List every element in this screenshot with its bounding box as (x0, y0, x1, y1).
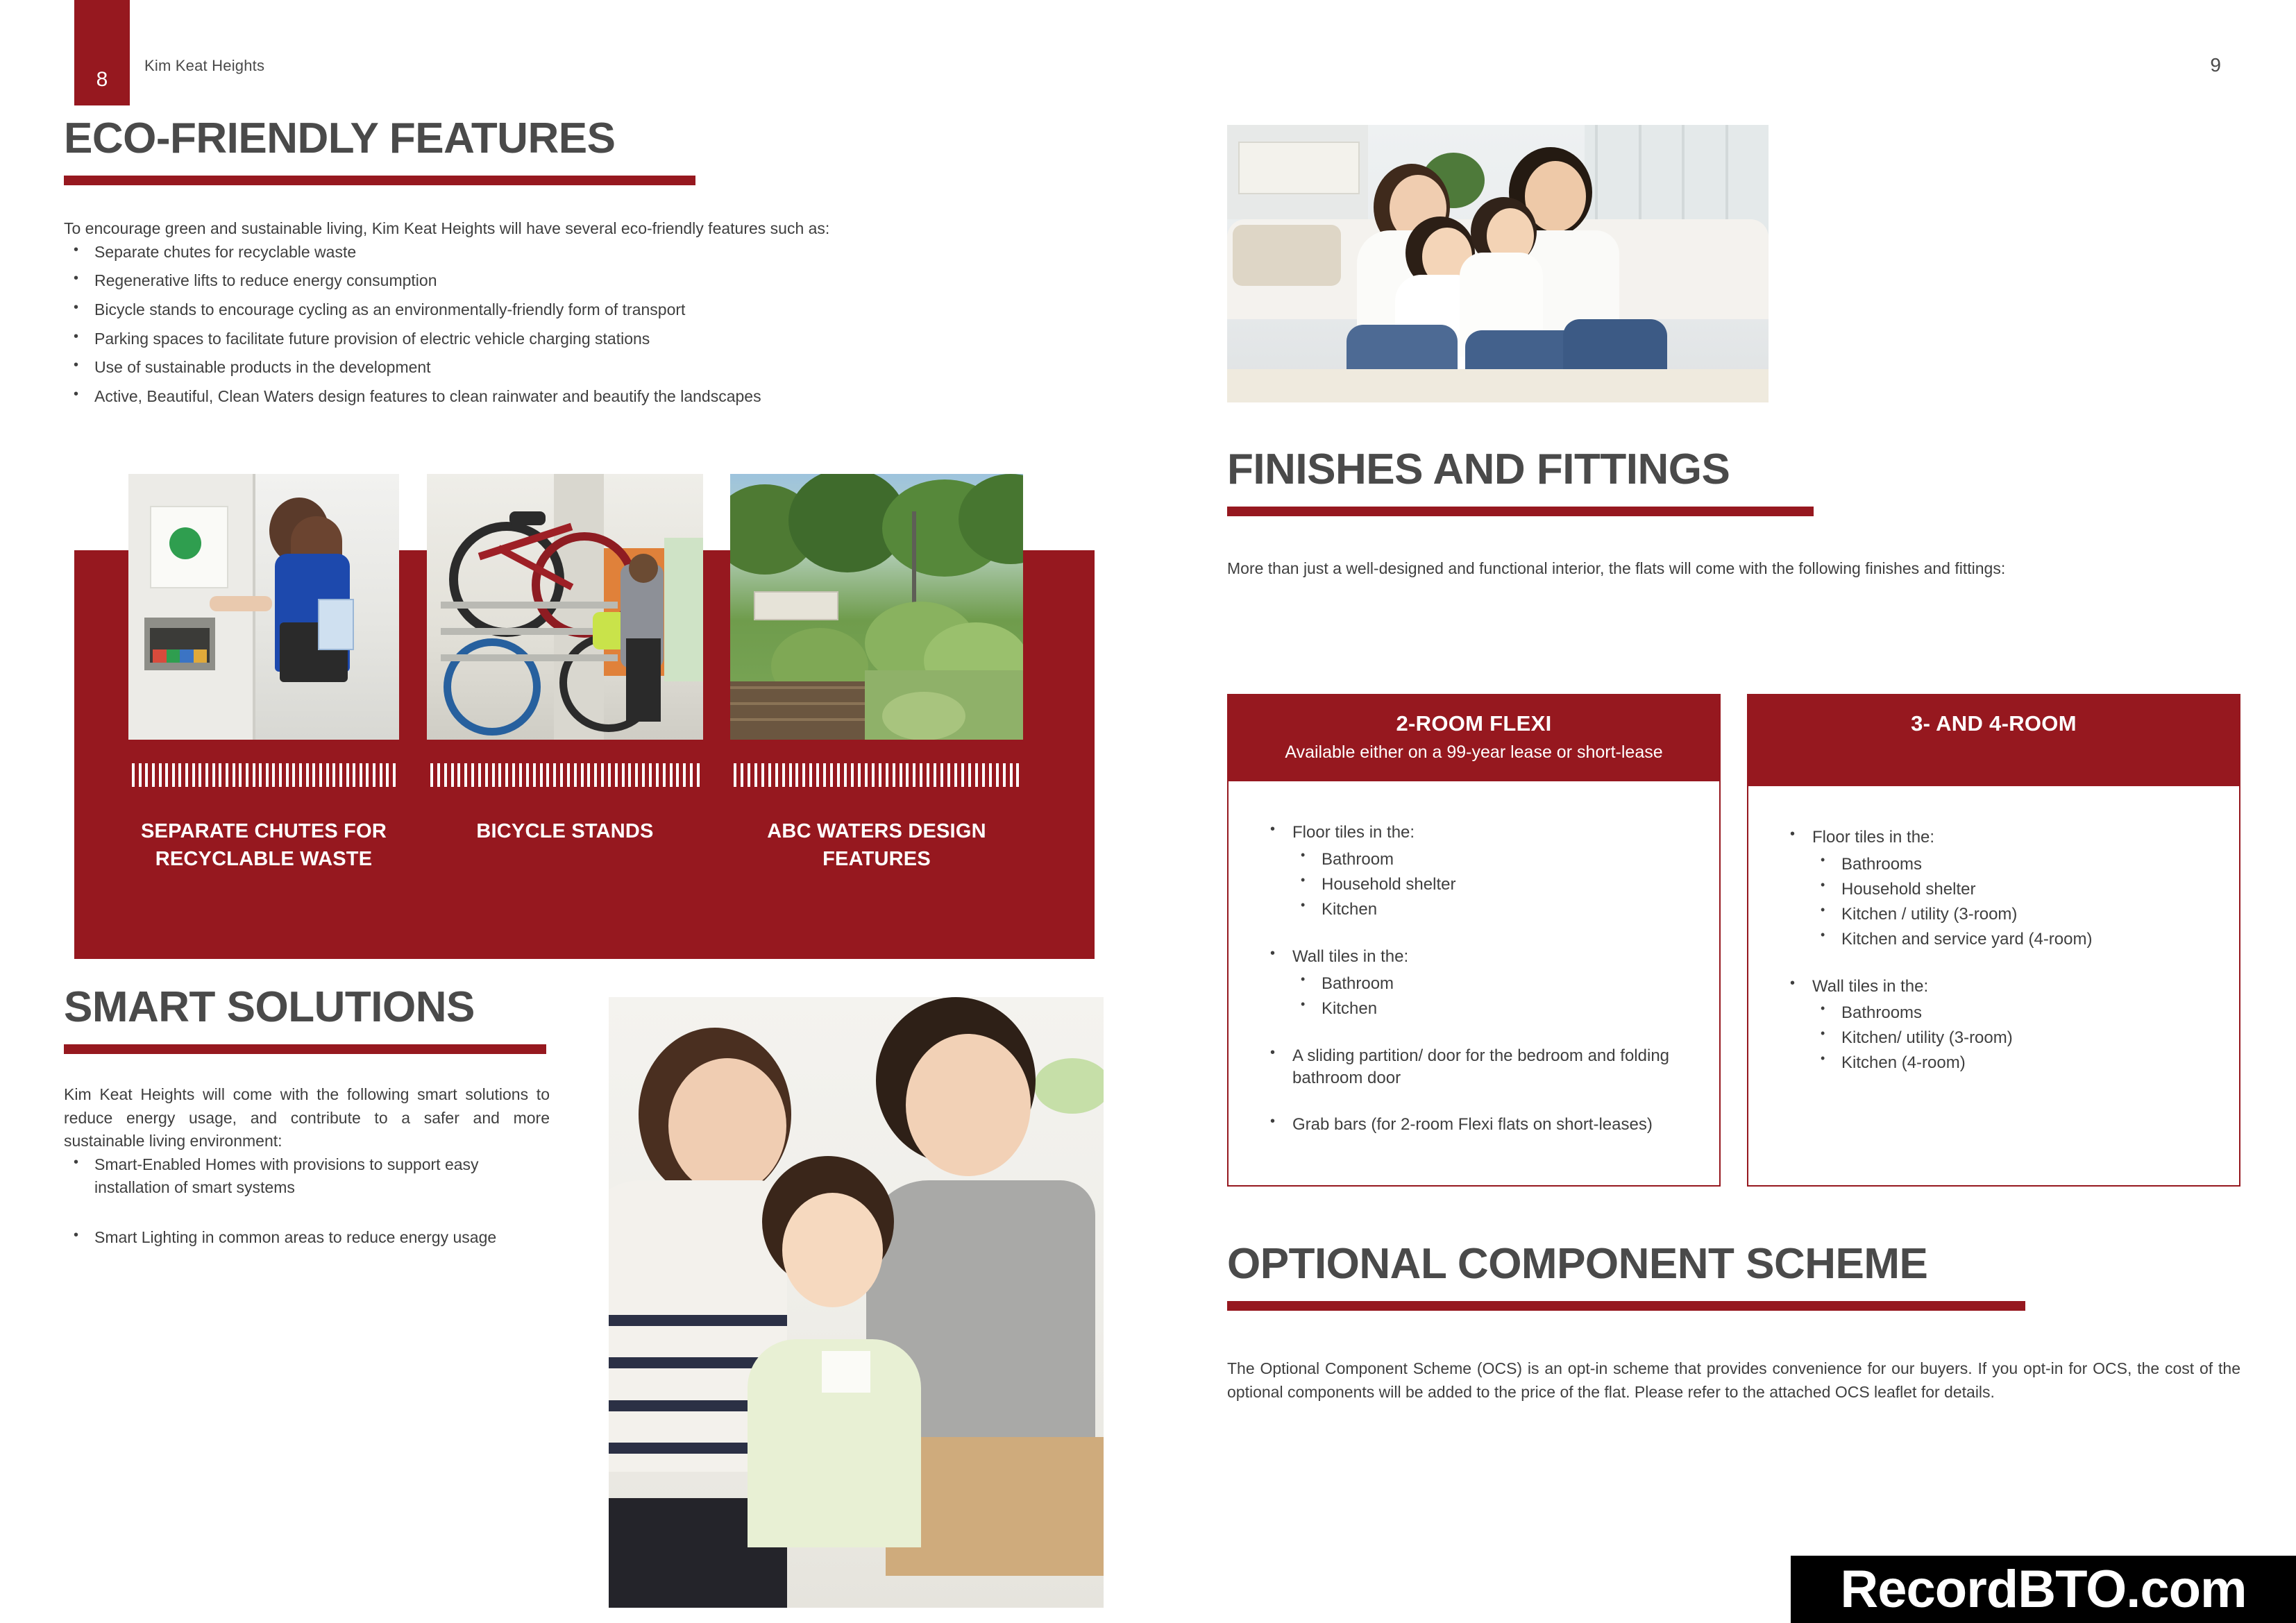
finishes-box-header: 2-ROOM FLEXI Available either on a 99-ye… (1229, 695, 1719, 781)
photo-caption: ABC WATERS DESIGN FEATURES (730, 817, 1023, 873)
eco-intro-paragraph: To encourage green and sustainable livin… (64, 217, 1049, 240)
photo-separate-chutes (128, 474, 399, 740)
list-item: Regenerative lifts to reduce energy cons… (64, 269, 1049, 292)
list-item: Use of sustainable products in the devel… (64, 356, 1049, 379)
list-item: Household shelter (1812, 877, 2211, 902)
finishes-sublist: Bathroom Household shelter Kitchen (1292, 847, 1691, 922)
brochure-page: 8 Kim Keat Heights 9 ECO-FRIENDLY FEATUR… (0, 0, 2296, 1623)
list-item: Kitchen / utility (3-room) (1812, 902, 2211, 927)
list-item: Kitchen (4-room) (1812, 1051, 2211, 1076)
list-item-label: Wall tiles in the: (1292, 947, 1408, 966)
photo-caption: SEPARATE CHUTES FOR RECYCLABLE WASTE (128, 817, 399, 873)
list-item: Kitchen/ utility (3-room) (1812, 1026, 2211, 1051)
finishes-list: Floor tiles in the: Bathrooms Household … (1784, 826, 2211, 1076)
list-item: Kitchen and service yard (4-room) (1812, 927, 2211, 952)
finishes-box-subtitle: Available either on a 99-year lease or s… (1241, 742, 1707, 763)
development-name: Kim Keat Heights (144, 57, 264, 75)
page-number-tab: 8 (74, 0, 130, 105)
photo-caption: BICYCLE STANDS (427, 817, 703, 845)
list-item: A sliding partition/ door for the bedroo… (1265, 1045, 1691, 1090)
list-item: Grab bars (for 2-room Flexi flats on sho… (1265, 1114, 1691, 1137)
list-item: Bicycle stands to encourage cycling as a… (64, 298, 1049, 321)
finishes-box-body: Floor tiles in the: Bathroom Household s… (1229, 781, 1719, 1184)
eco-section-title: ECO-FRIENDLY FEATURES (64, 117, 1049, 160)
list-item: Kitchen (1292, 996, 1691, 1021)
list-item: Wall tiles in the: Bathrooms Kitchen/ ut… (1784, 976, 2211, 1076)
list-item-label: Floor tiles in the: (1812, 828, 1934, 847)
finishes-title-rule (1227, 507, 1814, 516)
watermark-text: RecordBTO.com (1840, 1563, 2246, 1616)
list-item: Household shelter (1292, 872, 1691, 897)
smart-title-rule (64, 1044, 546, 1054)
list-item: Smart Lighting in common areas to reduce… (64, 1226, 550, 1249)
finishes-paragraph: More than just a well-designed and funct… (1227, 557, 2240, 580)
list-item: Parking spaces to facilitate future prov… (64, 328, 1049, 350)
list-item: Kitchen (1292, 897, 1691, 922)
list-item: Floor tiles in the: Bathroom Household s… (1265, 822, 1691, 922)
list-item: Bathrooms (1812, 852, 2211, 877)
list-item-label: Floor tiles in the: (1292, 823, 1415, 842)
photo-finishes-family (1227, 125, 1769, 402)
finishes-boxes: 2-ROOM FLEXI Available either on a 99-ye… (1227, 694, 2240, 1187)
eco-title-rule (64, 176, 695, 185)
eco-friendly-section: ECO-FRIENDLY FEATURES To encourage green… (64, 117, 1049, 414)
list-item-label: Wall tiles in the: (1812, 977, 1928, 996)
photo-smart-solutions-family (609, 997, 1104, 1608)
finishes-box-3-and-4-room: 3- AND 4-ROOM Floor tiles in the: Bathro… (1747, 694, 2240, 1187)
finishes-section-heading: FINISHES AND FITTINGS (1227, 448, 2240, 516)
photo-abc-waters (730, 474, 1023, 740)
finishes-sublist: Bathrooms Household shelter Kitchen / ut… (1812, 852, 2211, 952)
finishes-sublist: Bathroom Kitchen (1292, 971, 1691, 1021)
caption-divider-ticks (734, 763, 1020, 787)
finishes-box-title: 2-ROOM FLEXI (1241, 711, 1707, 736)
list-item: Separate chutes for recyclable waste (64, 241, 1049, 264)
smart-paragraph: Kim Keat Heights will come with the foll… (64, 1083, 550, 1153)
page-number-right: 9 (2210, 54, 2221, 76)
smart-bullet-list: Smart-Enabled Homes with provisions to s… (64, 1153, 550, 1249)
ocs-paragraph: The Optional Component Scheme (OCS) is a… (1227, 1357, 2240, 1404)
ocs-section-heading: OPTIONAL COMPONENT SCHEME (1227, 1242, 2240, 1311)
finishes-section-title: FINISHES AND FITTINGS (1227, 448, 2240, 491)
list-item: Active, Beautiful, Clean Waters design f… (64, 385, 1049, 408)
list-item: Bathroom (1292, 971, 1691, 996)
smart-section-title: SMART SOLUTIONS (64, 985, 550, 1029)
finishes-sublist: Bathrooms Kitchen/ utility (3-room) Kitc… (1812, 1001, 2211, 1076)
ocs-title-rule (1227, 1301, 2025, 1311)
list-item: Bathroom (1292, 847, 1691, 872)
list-item: Smart-Enabled Homes with provisions to s… (64, 1153, 550, 1198)
list-item: Wall tiles in the: Bathroom Kitchen (1265, 946, 1691, 1021)
page-number-left: 8 (74, 69, 130, 90)
finishes-box-title: 3- AND 4-ROOM (1761, 711, 2227, 736)
finishes-box-2-room-flexi: 2-ROOM FLEXI Available either on a 99-ye… (1227, 694, 1721, 1187)
smart-solutions-section: SMART SOLUTIONS Kim Keat Heights will co… (64, 985, 550, 1277)
finishes-box-header: 3- AND 4-ROOM (1748, 695, 2239, 786)
caption-divider-ticks (132, 763, 396, 787)
eco-bullet-list: Separate chutes for recyclable waste Reg… (64, 241, 1049, 408)
caption-divider-ticks (430, 763, 700, 787)
ocs-section-title: OPTIONAL COMPONENT SCHEME (1227, 1242, 2240, 1286)
finishes-list: Floor tiles in the: Bathroom Household s… (1265, 822, 1691, 1136)
finishes-box-body: Floor tiles in the: Bathrooms Household … (1748, 786, 2239, 1184)
recordbto-watermark: RecordBTO.com (1791, 1556, 2296, 1623)
list-item: Bathrooms (1812, 1001, 2211, 1026)
eco-photo-panel: SEPARATE CHUTES FOR RECYCLABLE WASTE BIC… (74, 550, 1095, 959)
list-item: Floor tiles in the: Bathrooms Household … (1784, 826, 2211, 952)
photo-bicycle-stands (427, 474, 703, 740)
